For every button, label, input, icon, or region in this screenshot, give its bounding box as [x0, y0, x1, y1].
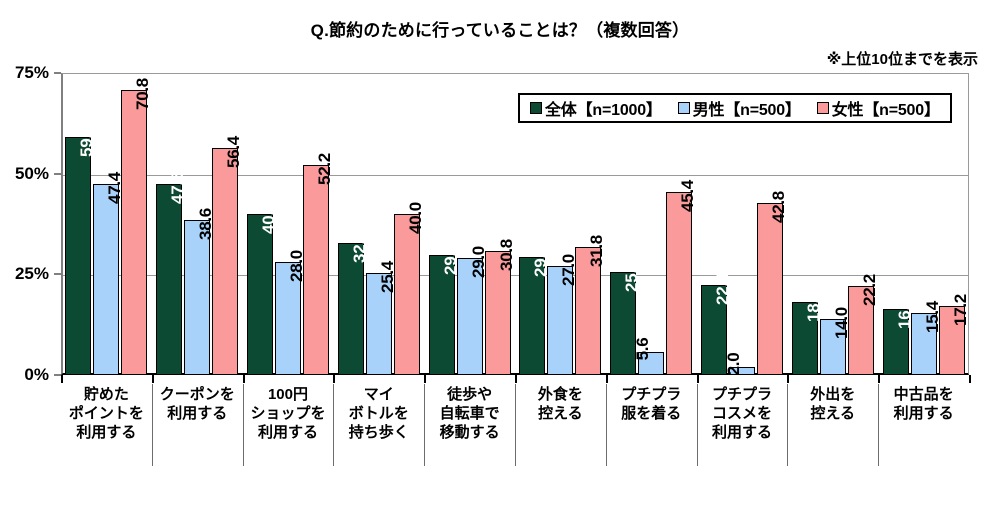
x-tick-mark: [606, 375, 608, 383]
bar-group: 29.929.030.8: [424, 73, 515, 375]
bar-value-label: 42.8: [770, 191, 787, 223]
category-label-line: プチプラ: [697, 386, 788, 405]
category-label-line: プチプラ: [606, 386, 697, 405]
bar-value-label: 52.2: [316, 153, 333, 185]
category-label-line: 貯めた: [61, 386, 152, 405]
category-label-line: 外出を: [787, 386, 878, 405]
category-labels: 貯めたポイントを利用するクーポンを利用する100円ショップを利用するマイボトルを…: [61, 384, 969, 474]
x-tick-mark: [878, 375, 880, 383]
category-label-line: 100円: [243, 386, 334, 405]
category-separator: [424, 384, 425, 466]
bar-value-label: 30.8: [498, 239, 515, 271]
legend-swatch-icon: [530, 102, 542, 114]
bar-value-label: 5.6: [634, 338, 651, 361]
chart-title: Q.節約のために行っていることは？（複数回答）: [0, 16, 1000, 41]
bar-value-label: 22.4: [714, 273, 731, 305]
category-label: 徒歩や自転車で移動する: [424, 384, 515, 472]
bar-group-bars: 29.929.030.8: [424, 73, 515, 375]
category-label-line: 利用する: [243, 424, 334, 443]
category-separator: [515, 384, 516, 466]
category-label: 貯めたポイントを利用する: [61, 384, 152, 472]
bar[interactable]: 29.4: [519, 257, 545, 375]
category-label: 中古品を利用する: [878, 384, 969, 472]
y-tick-label-75: 75%: [15, 63, 49, 83]
bar[interactable]: 14.0: [820, 319, 846, 375]
y-tick-label-0: 0%: [24, 365, 49, 385]
bar-group-bars: 32.725.440.0: [333, 73, 424, 375]
bar[interactable]: 27.0: [547, 266, 573, 375]
bar[interactable]: 59.1: [65, 137, 91, 375]
bar[interactable]: 31.8: [575, 247, 601, 375]
category-label: プチプラコスメを利用する: [697, 384, 788, 472]
bar-value-label: 18.1: [805, 290, 822, 322]
bar[interactable]: 2.0: [729, 367, 755, 375]
category-label-line: 徒歩や: [424, 386, 515, 405]
category-label-line: 持ち歩く: [333, 424, 424, 443]
category-label-line: 中古品を: [878, 386, 969, 405]
y-tick-mark: [54, 273, 61, 275]
bar-value-label: 70.8: [134, 78, 151, 110]
chart-note: ※上位10位までを表示: [827, 48, 978, 69]
bar[interactable]: 42.8: [757, 203, 783, 375]
category-label-line: ポイントを: [61, 405, 152, 424]
category-label: プチプラ服を着る: [606, 384, 697, 472]
bar-group: 40.128.052.2: [243, 73, 334, 375]
category-label-line: 利用する: [697, 424, 788, 443]
bar[interactable]: 70.8: [121, 90, 147, 375]
bar-value-label: 40.1: [260, 202, 277, 234]
x-tick-mark: [333, 375, 335, 383]
category-label-line: 利用する: [878, 405, 969, 424]
category-label-line: コスメを: [697, 405, 788, 424]
x-tick-mark: [424, 375, 426, 383]
bar[interactable]: 16.3: [883, 309, 909, 375]
bar-value-label: 56.4: [225, 136, 242, 168]
bar[interactable]: 18.1: [792, 302, 818, 375]
bar[interactable]: 45.4: [666, 192, 692, 375]
category-separator: [697, 384, 698, 466]
bar-group: 32.725.440.0: [333, 73, 424, 375]
bar[interactable]: 47.5: [156, 184, 182, 375]
y-axis: 0%25%50%75%: [0, 0, 61, 505]
legend-label: 女性【n=500】: [832, 96, 940, 120]
bar-value-label: 47.5: [169, 172, 186, 204]
bar-value-label: 22.2: [861, 274, 878, 306]
category-label-line: ショップを: [243, 405, 334, 424]
x-tick-mark: [787, 375, 789, 383]
category-separator: [787, 384, 788, 466]
category-separator: [152, 384, 153, 466]
legend-label: 全体【n=1000】: [545, 96, 662, 120]
x-tick-mark: [969, 375, 971, 383]
category-label: マイボトルを持ち歩く: [333, 384, 424, 472]
bar-value-label: 32.7: [351, 231, 368, 263]
category-label-line: クーポンを: [152, 386, 243, 405]
bar-value-label: 25.5: [623, 260, 640, 292]
bar-group-bars: 47.538.656.4: [152, 73, 243, 375]
bar-value-label: 17.2: [952, 294, 969, 326]
category-label-line: 移動する: [424, 424, 515, 443]
legend-swatch-icon: [817, 102, 829, 114]
bar[interactable]: 56.4: [212, 148, 238, 375]
bar[interactable]: 5.6: [638, 352, 664, 375]
category-label: クーポンを利用する: [152, 384, 243, 472]
legend-item[interactable]: 女性【n=500】: [817, 96, 940, 120]
x-tick-mark: [515, 375, 517, 383]
category-label: 100円ショップを利用する: [243, 384, 334, 472]
bar[interactable]: 40.1: [247, 214, 273, 375]
bar[interactable]: 32.7: [338, 243, 364, 375]
x-tick-mark: [61, 375, 63, 383]
bar-value-label: 59.1: [78, 125, 95, 157]
bar-group-bars: 59.147.470.8: [61, 73, 152, 375]
y-tick-label-25: 25%: [15, 264, 49, 284]
legend-item[interactable]: 全体【n=1000】: [530, 96, 662, 120]
y-tick-mark: [54, 173, 61, 175]
bar[interactable]: 38.6: [184, 220, 210, 375]
bar-group-bars: 40.128.052.2: [243, 73, 334, 375]
y-tick-mark: [54, 374, 61, 376]
category-separator: [606, 384, 607, 466]
x-tick-mark: [243, 375, 245, 383]
bar[interactable]: 17.2: [939, 306, 965, 375]
category-label-line: ボトルを: [333, 405, 424, 424]
bar-group: 59.147.470.8: [61, 73, 152, 375]
bar-value-label: 2.0: [725, 353, 742, 376]
bar-value-label: 40.0: [407, 202, 424, 234]
legend-swatch-icon: [678, 102, 690, 114]
category-label: 外出を控える: [787, 384, 878, 472]
x-tick-mark: [152, 375, 154, 383]
category-label-line: 外食を: [515, 386, 606, 405]
bar[interactable]: 25.4: [366, 273, 392, 375]
bar[interactable]: 47.4: [93, 184, 119, 375]
bar[interactable]: 22.2: [848, 286, 874, 375]
bar[interactable]: 40.0: [394, 214, 420, 375]
bar-chart: Q.節約のために行っていることは？（複数回答） ※上位10位までを表示 0%25…: [0, 0, 1000, 505]
category-label-line: 控える: [787, 405, 878, 424]
legend-label: 男性【n=500】: [693, 96, 801, 120]
bar[interactable]: 29.0: [457, 258, 483, 375]
bar[interactable]: 52.2: [303, 165, 329, 375]
category-label-line: マイ: [333, 386, 424, 405]
bar-group: 47.538.656.4: [152, 73, 243, 375]
category-separator: [333, 384, 334, 466]
y-tick-mark: [54, 72, 61, 74]
category-separator: [878, 384, 879, 466]
bar-value-label: 31.8: [588, 235, 605, 267]
bar[interactable]: 15.4: [911, 313, 937, 375]
category-label-line: 控える: [515, 405, 606, 424]
bar[interactable]: 30.8: [485, 251, 511, 375]
category-label-line: 自転車で: [424, 405, 515, 424]
category-label-line: 利用する: [61, 424, 152, 443]
bar[interactable]: 28.0: [275, 262, 301, 375]
bar[interactable]: 29.9: [429, 255, 455, 375]
category-separator: [243, 384, 244, 466]
bar-value-label: 45.4: [679, 180, 696, 212]
y-tick-label-50: 50%: [15, 164, 49, 184]
legend-item[interactable]: 男性【n=500】: [678, 96, 801, 120]
x-tick-mark: [697, 375, 699, 383]
legend: 全体【n=1000】男性【n=500】女性【n=500】: [518, 93, 952, 123]
category-label: 外食を控える: [515, 384, 606, 472]
category-label-line: 利用する: [152, 405, 243, 424]
category-label-line: 服を着る: [606, 405, 697, 424]
